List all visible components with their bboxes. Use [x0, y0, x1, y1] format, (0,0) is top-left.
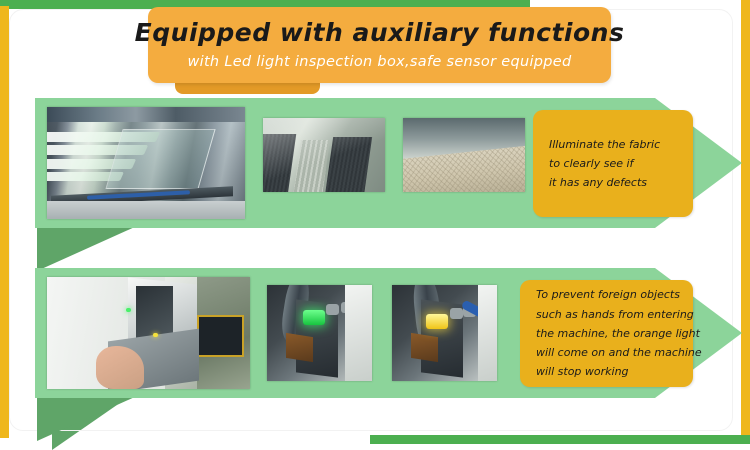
- arrow-tail-shadow: [37, 226, 137, 271]
- indicator-lamp-amber: [426, 314, 448, 329]
- caption-line: such as hands from entering: [536, 305, 677, 324]
- photo-fabric-roll: [403, 118, 525, 192]
- photo-sensor-green-light: [267, 285, 372, 381]
- caption-line: will come on and the machine: [536, 343, 677, 362]
- page-title: Equipped with auxiliary functions: [135, 20, 625, 45]
- photo-hand-at-sensor-panel: [47, 277, 250, 389]
- caption-line: the machine, the orange light: [536, 324, 677, 343]
- caption-line: to clearly see if: [549, 154, 677, 173]
- caption-line: will stop working: [536, 362, 677, 381]
- caption-led-inspection: Illuminate the fabric to clearly see if …: [533, 110, 693, 217]
- indicator-lamp-green: [303, 310, 325, 325]
- page-subtitle: with Led light inspection box,safe senso…: [187, 54, 571, 70]
- caption-line: Illuminate the fabric: [549, 135, 677, 154]
- caption-line: it has any defects: [549, 173, 677, 192]
- infographic-page: Equipped with auxiliary functions with L…: [0, 0, 750, 450]
- frame-right-gold-bar: [741, 0, 750, 438]
- photo-sensor-orange-light: [392, 285, 497, 381]
- caption-safety-sensor: To prevent foreign objects such as hands…: [520, 280, 693, 387]
- frame-bottom-green-bar: [370, 435, 750, 444]
- section-led-inspection: Illuminate the fabric to clearly see if …: [35, 98, 695, 228]
- photo-led-inspection-table: [47, 107, 245, 219]
- frame-left-gold-bar: [0, 6, 9, 438]
- section-safety-sensor: To prevent foreign objects such as hands…: [35, 268, 695, 398]
- arrow-tail-shadow: [37, 396, 137, 441]
- caption-line: To prevent foreign objects: [536, 285, 677, 304]
- photo-dark-fabric-swatches: [263, 118, 385, 192]
- title-banner: Equipped with auxiliary functions with L…: [148, 7, 611, 83]
